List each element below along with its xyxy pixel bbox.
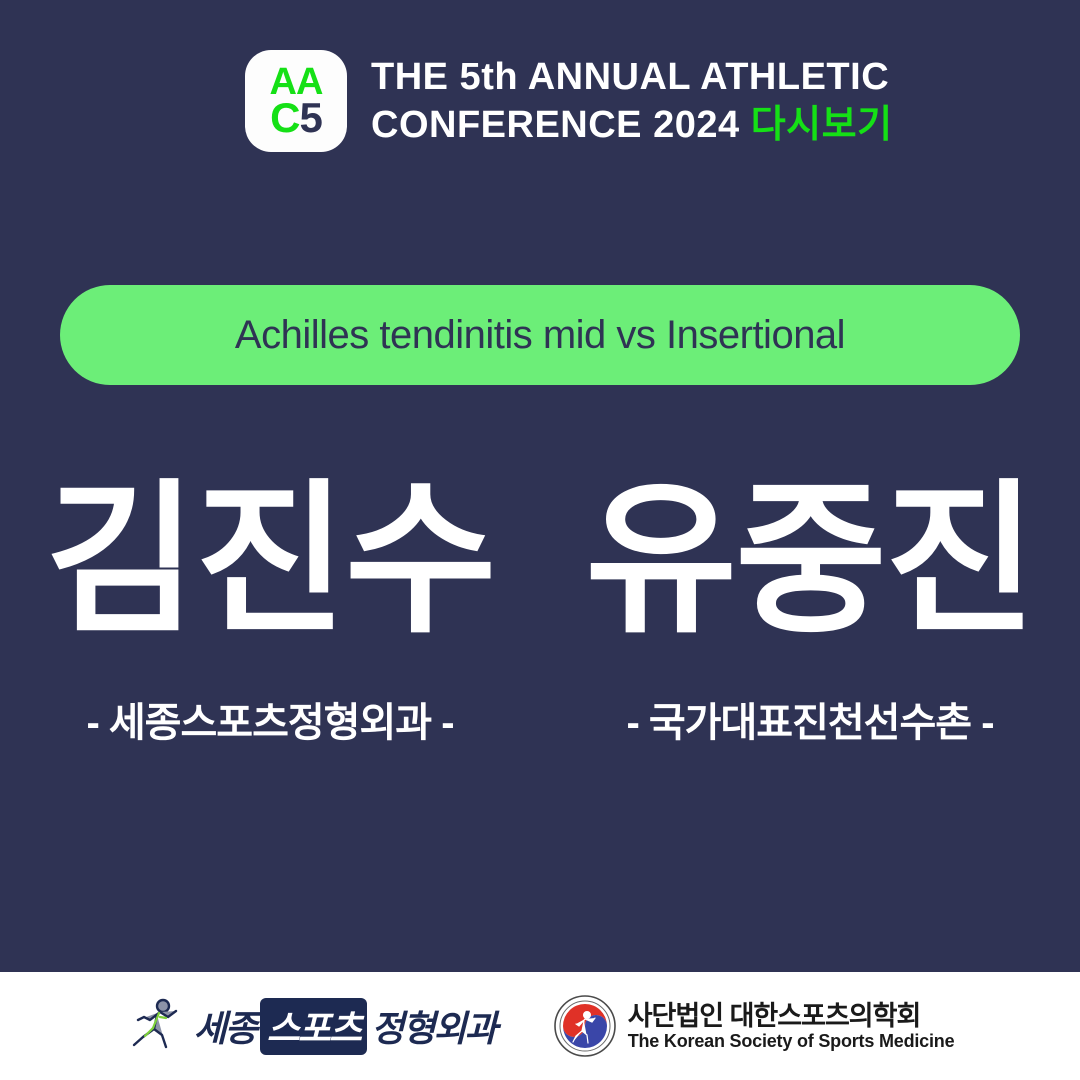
poster-header: AA C5 THE 5th ANNUAL ATHLETIC CONFERENCE… xyxy=(245,50,893,152)
header-line-1: THE 5th ANNUAL ATHLETIC xyxy=(371,54,893,102)
running-man-icon xyxy=(126,995,188,1057)
poster-footer: 세종 스포츠 정형외과 사단법인 대한스포츠의학회 xyxy=(0,972,1080,1080)
speaker-card-1: 김진수 - 세종스포츠정형외과 - xyxy=(0,470,540,748)
session-title-text: Achilles tendinitis mid vs Insertional xyxy=(235,313,845,358)
header-replay-label: 다시보기 xyxy=(751,104,893,146)
speaker-name: 김진수 xyxy=(0,470,540,652)
speaker-name: 유중진 xyxy=(540,470,1080,652)
conference-poster: AA C5 THE 5th ANNUAL ATHLETIC CONFERENCE… xyxy=(0,0,1080,1080)
kssm-wordmark: 사단법인 대한스포츠의학회 The Korean Society of Spor… xyxy=(628,1001,955,1051)
kssm-emblem-icon xyxy=(554,995,616,1057)
aac5-logo: AA C5 xyxy=(245,50,347,152)
speaker-affiliation: - 국가대표진천선수촌 - xyxy=(540,690,1080,748)
sejong-sports-orthopedics-logo: 세종 스포츠 정형외과 xyxy=(126,995,496,1057)
sejong-word-2: 정형외과 xyxy=(371,1000,495,1052)
header-line-2: CONFERENCE 2024 다시보기 xyxy=(371,102,893,150)
speaker-affiliation: - 세종스포츠정형외과 - xyxy=(0,690,540,748)
sejong-wordmark: 세종 스포츠 정형외과 xyxy=(194,998,496,1055)
speaker-card-2: 유중진 - 국가대표진천선수촌 - xyxy=(540,470,1080,748)
kssm-korean-name: 사단법인 대한스포츠의학회 xyxy=(628,1001,955,1031)
header-line-2-main: CONFERENCE 2024 xyxy=(371,104,740,146)
aac5-logo-letter-c: C xyxy=(270,94,299,141)
header-title-block: THE 5th ANNUAL ATHLETIC CONFERENCE 2024 … xyxy=(371,50,893,150)
korean-society-sports-medicine-logo: 사단법인 대한스포츠의학회 The Korean Society of Spor… xyxy=(554,995,955,1057)
sejong-chip-sports: 스포츠 xyxy=(260,998,367,1055)
sejong-word-1: 세종 xyxy=(194,1000,256,1052)
speaker-list: 김진수 - 세종스포츠정형외과 - 유중진 - 국가대표진천선수촌 - xyxy=(0,470,1080,748)
kssm-english-name: The Korean Society of Sports Medicine xyxy=(628,1031,955,1051)
aac5-logo-number-5: 5 xyxy=(299,94,321,141)
session-title-banner: Achilles tendinitis mid vs Insertional xyxy=(60,285,1020,385)
aac5-logo-bottom: C5 xyxy=(270,97,322,139)
